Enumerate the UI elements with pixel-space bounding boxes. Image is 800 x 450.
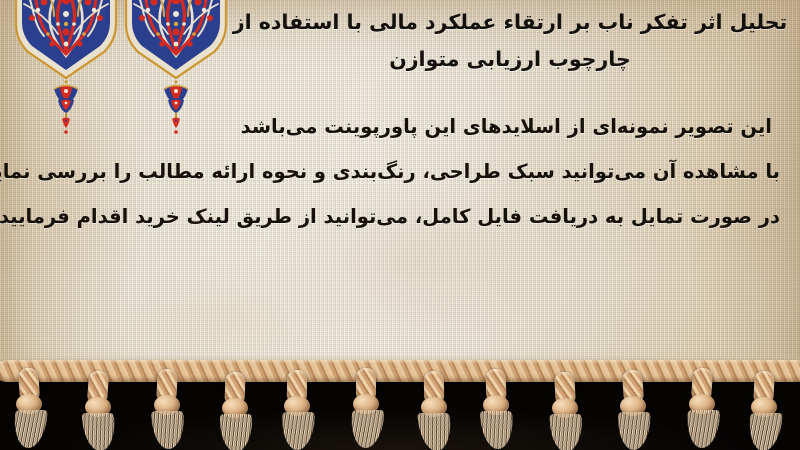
- fringe-tassel: [480, 369, 514, 449]
- tassel-skirt: [82, 413, 117, 450]
- fringe-tassel: [151, 369, 185, 449]
- tassel-skirt: [13, 410, 48, 448]
- fringe-tassel: [686, 368, 720, 448]
- fringe-tassel: [748, 371, 782, 450]
- body-line-2: با مشاهده آن می‌توانید سبک طراحی، رنگ‌بن…: [18, 149, 780, 194]
- slide-canvas: تحلیل اثر تفکر ناب بر ارتقاء عملکرد مالی…: [0, 0, 800, 450]
- fringe-tassel: [350, 368, 384, 448]
- ornament-medallion-right-icon: [124, 0, 228, 106]
- fringe-tassel: [418, 371, 452, 450]
- fringe-tassel: [617, 370, 651, 450]
- slide-title: تحلیل اثر تفکر ناب بر ارتقاء عملکرد مالی…: [230, 4, 790, 78]
- tassel-skirt: [349, 410, 384, 448]
- tassel-skirt: [686, 410, 720, 448]
- ornament-medallion-left-icon: [14, 0, 118, 106]
- tassel-skirt: [220, 414, 252, 450]
- fringe-tassel: [13, 368, 47, 448]
- fringe-rope-border: [0, 360, 800, 382]
- body-line-3: در صورت تمایل به دریافت فایل کامل، می‌تو…: [18, 194, 780, 239]
- tassel-skirt: [151, 411, 184, 449]
- fringe-tassel: [82, 371, 116, 450]
- ornament-group: [0, 0, 240, 104]
- fringe-tassel: [549, 372, 583, 450]
- tassel-skirt: [549, 414, 582, 450]
- slide-body: این تصویر نمونه‌ای از اسلایدهای این پاور…: [18, 104, 780, 239]
- tassel-skirt: [281, 412, 314, 450]
- carpet-fringe: [0, 354, 800, 450]
- fringe-tassel: [219, 372, 253, 450]
- tassel-skirt: [747, 413, 782, 450]
- tassel-skirt: [418, 413, 453, 450]
- body-line-1: این تصویر نمونه‌ای از اسلایدهای این پاور…: [18, 104, 772, 149]
- tassel-skirt: [618, 412, 651, 450]
- slide-title-line-2: چارچوب ارزیابی متوازن: [230, 41, 790, 78]
- slide-title-line-1: تحلیل اثر تفکر ناب بر ارتقاء عملکرد مالی…: [230, 4, 790, 41]
- tassel-skirt: [480, 411, 514, 449]
- fringe-tassel: [281, 370, 315, 450]
